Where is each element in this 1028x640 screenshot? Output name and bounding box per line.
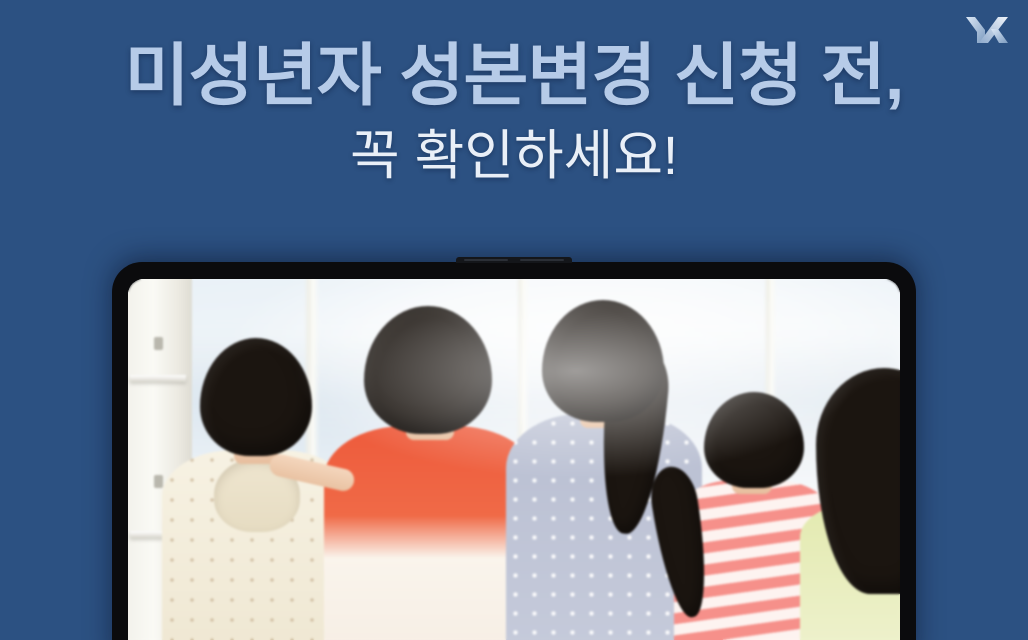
- children-at-window-photo: [128, 279, 900, 640]
- promo-card: 미성년자 성본변경 신청 전, 꼭 확인하세요!: [0, 0, 1028, 640]
- child-figure-5: [792, 362, 900, 640]
- child-4-hair: [704, 392, 804, 488]
- child-3-hair: [542, 300, 664, 422]
- headline-secondary: 꼭 확인하세요!: [0, 129, 1028, 183]
- tablet-speaker-grille: [456, 257, 572, 263]
- headline-block: 미성년자 성본변경 신청 전, 꼭 확인하세요!: [0, 42, 1028, 183]
- child-1-hair: [200, 338, 312, 456]
- headline-primary: 미성년자 성본변경 신청 전,: [0, 42, 1028, 110]
- child-2-hair: [364, 306, 492, 434]
- tablet-screen: [128, 279, 900, 640]
- tablet-device: [112, 262, 916, 640]
